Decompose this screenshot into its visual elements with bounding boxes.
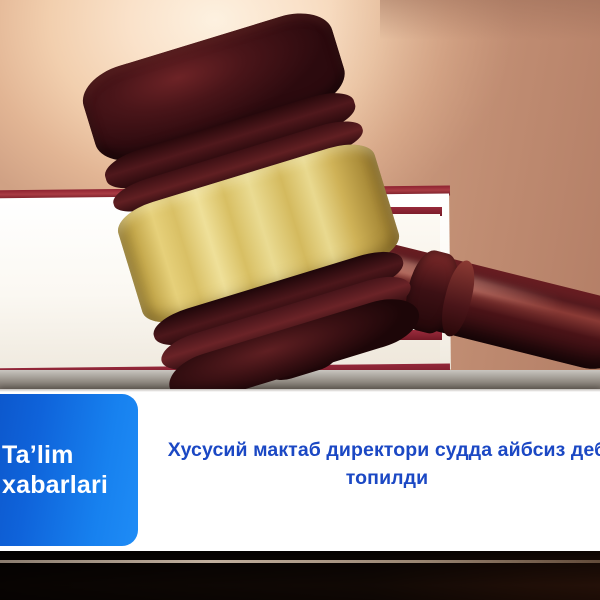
- caption-panel-top-shadow: [0, 389, 600, 392]
- category-badge-line-1: Ta’lim: [2, 440, 138, 471]
- headline-text: Хусусий мактаб директори судда айбсиз де…: [152, 436, 600, 493]
- table-edge-highlight: [0, 560, 600, 563]
- gavel: [0, 0, 600, 420]
- news-card: Ta’lim xabarlari Хусусий мактаб директор…: [0, 0, 600, 600]
- table-wood-surface: [0, 548, 600, 600]
- category-badge-line-2: xabarlari: [2, 470, 138, 501]
- gavel-head: [75, 3, 420, 395]
- category-badge[interactable]: Ta’lim xabarlari: [0, 394, 138, 546]
